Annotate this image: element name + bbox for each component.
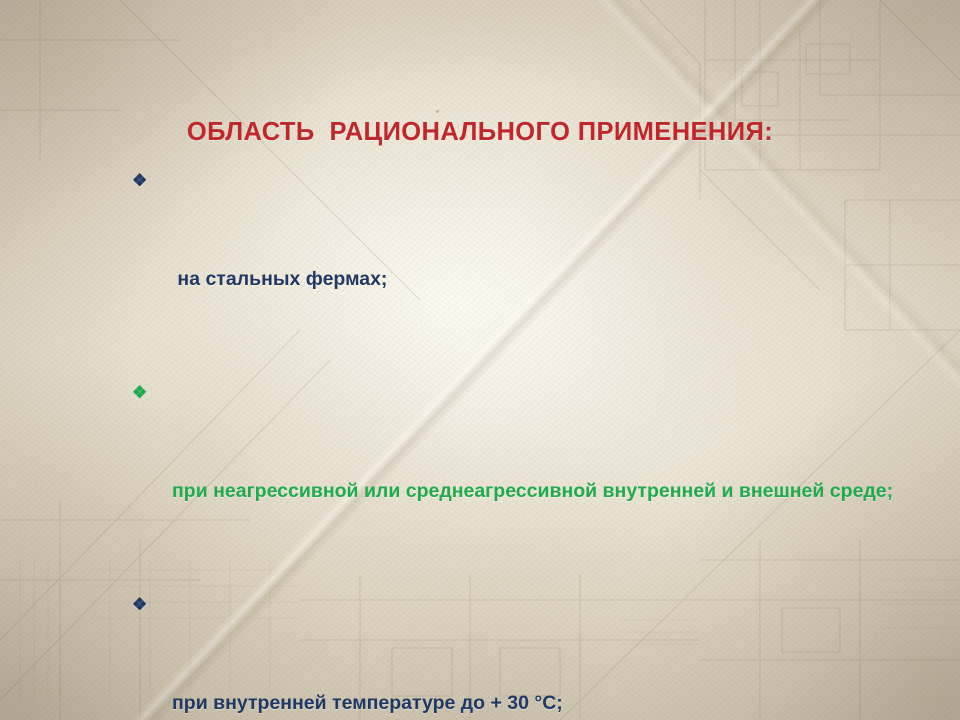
slide-title: ОБЛАСТЬ РАЦИОНАЛЬНОГО ПРИМЕНЕНИЯ: xyxy=(0,118,960,147)
paper-speck xyxy=(436,110,439,113)
diamond-bullet-icon: ❖ xyxy=(132,588,158,621)
list-item: ❖ при внутренней температуре до + 30 °C; xyxy=(130,588,920,720)
bullet-list: ❖ на стальных фермах; ❖ при неагрессивно… xyxy=(130,164,920,720)
list-item: ❖ при неагрессивной или среднеагрессивно… xyxy=(130,376,920,574)
diamond-bullet-icon: ❖ xyxy=(132,376,158,409)
list-item-text: при неагрессивной или среднеагрессивной … xyxy=(172,475,920,508)
list-item-text: на стальных фермах; xyxy=(172,263,920,296)
presentation-slide: ОБЛАСТЬ РАЦИОНАЛЬНОГО ПРИМЕНЕНИЯ: ❖ на с… xyxy=(0,0,960,720)
list-item: ❖ на стальных фермах; xyxy=(130,164,920,362)
list-item-text: при внутренней температуре до + 30 °C; xyxy=(172,687,920,720)
slide-content: ОБЛАСТЬ РАЦИОНАЛЬНОГО ПРИМЕНЕНИЯ: ❖ на с… xyxy=(0,0,960,720)
diamond-bullet-icon: ❖ xyxy=(132,164,158,197)
